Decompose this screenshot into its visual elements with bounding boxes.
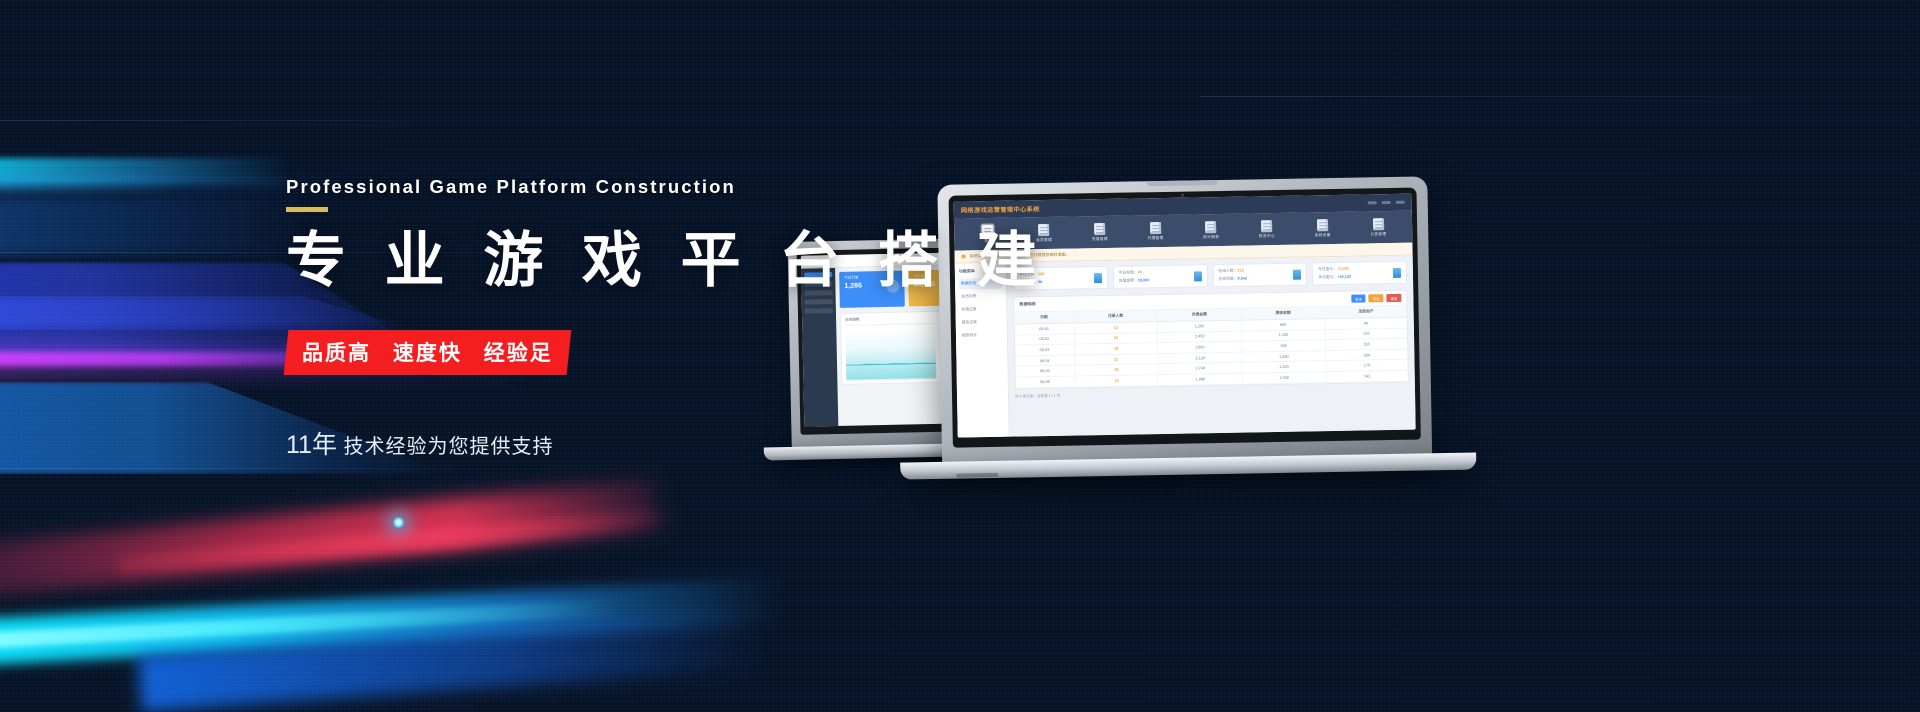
toolbar-item-agent[interactable]: 代理管理 <box>1127 221 1183 241</box>
stat-value: 312 <box>1237 269 1243 273</box>
experience-line: 11年 技术经验为您提供支持 <box>286 425 1048 461</box>
cyan-bottom-band-core <box>0 599 619 652</box>
stat-line-2: 总会员数：8,542 <box>1218 276 1301 282</box>
cyan-bottom-band <box>0 577 780 668</box>
tech-line-4 <box>1200 96 1920 97</box>
stat-value: 8,542 <box>1237 277 1247 281</box>
stat-line-2: 充值金额：18,600 <box>1119 277 1202 283</box>
cell-recharge: 1,980 <box>1158 373 1242 385</box>
chart-icon <box>1293 269 1301 279</box>
stat-value: +46,120 <box>1337 275 1351 279</box>
cell-active: 142 <box>1326 370 1408 382</box>
stat-label: 总会员数： <box>1218 277 1237 281</box>
red-diagonal-streak <box>0 479 659 600</box>
notice-doc-icon <box>1373 218 1384 230</box>
reset-button[interactable]: 重置 <box>1387 294 1402 302</box>
status-badge: 品质高 速度快 经验足 <box>284 330 571 375</box>
front-stat-row: 今日注册：128 昨日注册：96 今日充值：45 充值金额：18,600 <box>1013 261 1407 291</box>
stat-line-1: 在线人数：312 <box>1218 268 1301 274</box>
table-footer-status: 共 6 条记录，当前第 1 / 1 页 <box>1015 387 1409 399</box>
banner-copy: Professional Game Platform Construction … <box>286 176 1048 461</box>
stat-label: 本月盈亏： <box>1318 275 1337 279</box>
glow-dot <box>392 516 405 529</box>
tech-line-1 <box>0 120 520 121</box>
stat-label: 在线人数： <box>1218 269 1237 273</box>
badge-item-quality: 品质高 <box>302 342 371 365</box>
stat-card[interactable]: 今日充值：45 充值金额：18,600 <box>1113 264 1208 289</box>
toolbar-label: 财务中心 <box>1239 233 1295 239</box>
cyan-beam-top <box>0 158 290 184</box>
maximize-icon[interactable] <box>1382 201 1391 204</box>
toolbar-label: 公告管理 <box>1350 231 1406 237</box>
toolbar-label: 统计报表 <box>1183 234 1239 240</box>
toolbar-label: 系统设置 <box>1295 232 1351 238</box>
cell-withdraw: 1,050 <box>1242 372 1326 384</box>
stat-label: 充值金额： <box>1119 278 1138 282</box>
chart-icon <box>1094 273 1102 283</box>
blue-slab-upper <box>0 196 310 256</box>
window-controls[interactable] <box>1368 201 1405 205</box>
eyebrow-text: Professional Game Platform Construction <box>286 176 1048 198</box>
toolbar-label: 代理管理 <box>1128 235 1184 241</box>
wallet-doc-icon <box>1094 222 1105 234</box>
settings-doc-icon <box>1317 219 1328 231</box>
stat-value: 18,600 <box>1138 278 1150 282</box>
front-laptop-vent <box>956 473 998 478</box>
table-action-buttons[interactable]: 查询 导出 重置 <box>1351 294 1401 303</box>
report-doc-icon <box>1205 221 1216 233</box>
minimize-icon[interactable] <box>1368 201 1377 204</box>
toolbar-item-report[interactable]: 统计报表 <box>1183 220 1239 240</box>
toolbar-item-settings[interactable]: 系统设置 <box>1294 218 1350 238</box>
export-button[interactable]: 导出 <box>1369 294 1384 302</box>
years-value: 11年 <box>286 431 337 459</box>
page-title: 专 业 游 戏 平 台 搭 建 <box>286 229 1048 292</box>
query-button[interactable]: 查询 <box>1351 294 1366 302</box>
front-laptop-notch <box>1146 180 1218 186</box>
data-table: 日期 注册人数 充值金额 提现金额 活跃用户 <box>1015 306 1408 388</box>
toolbar-item-notice[interactable]: 公告管理 <box>1350 217 1406 237</box>
stat-line-1: 今日盈亏：+2,380 <box>1318 266 1401 272</box>
front-main-content: 今日注册：128 昨日注册：96 今日充值：45 充值金额：18,600 <box>1007 256 1416 437</box>
toolbar-item-recharge[interactable]: 充值管理 <box>1072 222 1128 242</box>
red-diagonal-core <box>119 507 679 576</box>
webcam-icon <box>1181 194 1184 197</box>
stat-value: 45 <box>1138 270 1142 274</box>
chart-icon <box>1393 267 1401 277</box>
front-table-panel: 数据明细 查询 导出 重置 <box>1013 290 1409 389</box>
stat-label: 今日盈亏： <box>1318 267 1337 271</box>
banner-stage: Professional Game Platform Construction … <box>0 0 1920 712</box>
cell-registrations: 19 <box>1075 375 1159 387</box>
stat-line-2: 本月盈亏：+46,120 <box>1318 274 1401 280</box>
toolbar-label: 充值管理 <box>1072 236 1128 242</box>
gold-underline-accent <box>286 207 328 212</box>
stat-card[interactable]: 今日盈亏：+2,380 本月盈亏：+46,120 <box>1312 261 1407 286</box>
stat-value: +2,380 <box>1337 267 1349 271</box>
tech-line-3 <box>0 468 600 469</box>
badge-item-experience: 经验足 <box>484 342 553 365</box>
stat-line-1: 今日充值：45 <box>1119 269 1202 275</box>
close-icon[interactable] <box>1396 201 1405 204</box>
years-text: 技术经验为您提供支持 <box>344 436 554 458</box>
blue-bottom-band <box>138 613 760 712</box>
badge-label-group: 品质高 速度快 经验足 <box>302 337 553 367</box>
stat-label: 今日充值： <box>1119 270 1138 274</box>
chart-icon <box>1193 271 1201 281</box>
stat-card[interactable]: 在线人数：312 总会员数：8,542 <box>1212 262 1307 287</box>
agent-doc-icon <box>1150 222 1161 234</box>
finance-doc-icon <box>1261 220 1272 232</box>
badge-item-speed: 速度快 <box>393 342 462 365</box>
table-body: 09-01 12 1,200 800 96 09-02 <box>1015 317 1408 387</box>
toolbar-item-finance[interactable]: 财务中心 <box>1239 219 1295 239</box>
